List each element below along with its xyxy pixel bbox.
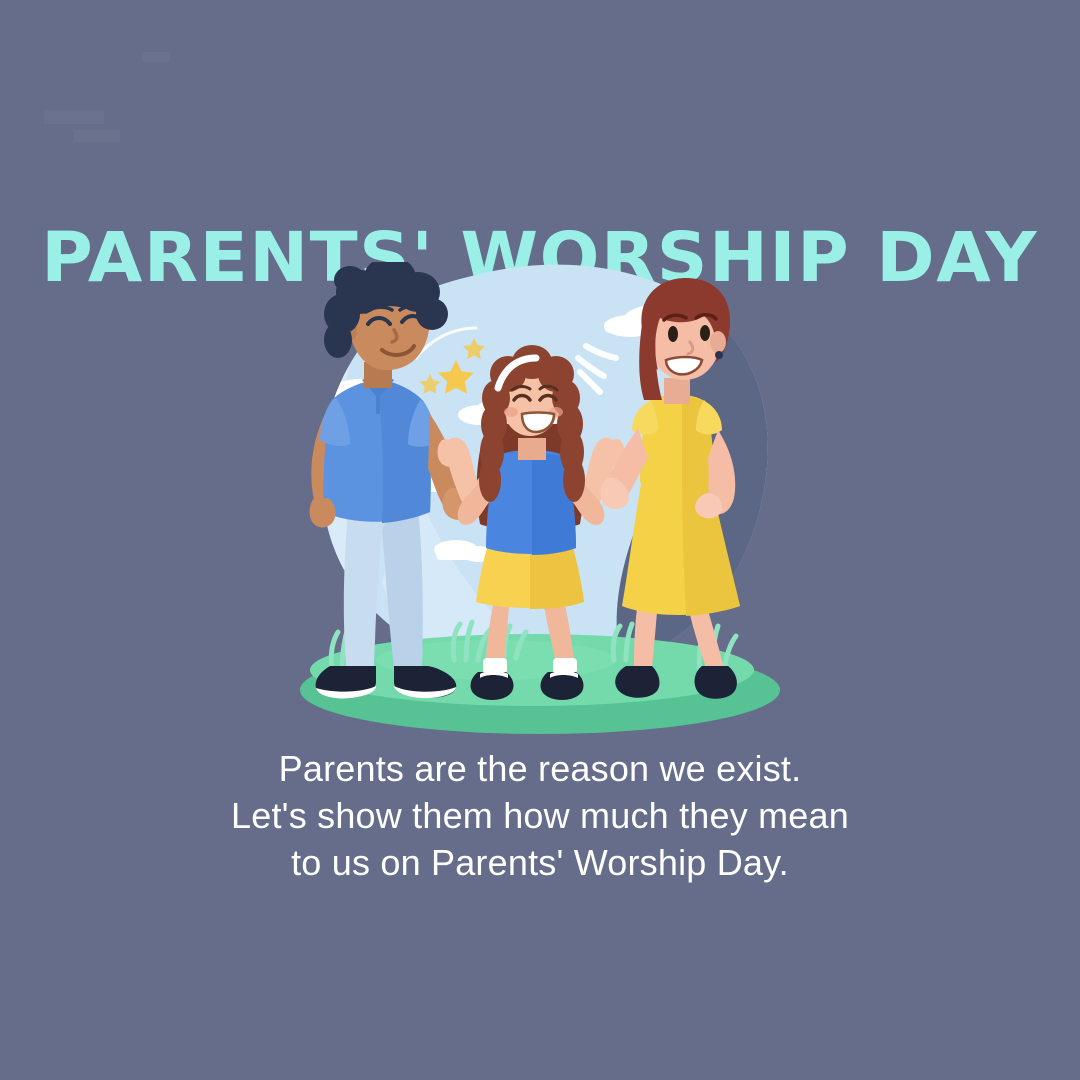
caption-block: Parents are the reason we exist. Let's s…: [0, 745, 1080, 886]
mother-shoe-right: [695, 666, 737, 699]
background-watermark: [44, 22, 234, 147]
mother-neck: [664, 378, 690, 404]
daughter-neck: [518, 438, 546, 460]
family-illustration: [290, 262, 790, 734]
father-hand-far: [310, 498, 336, 527]
father-pants-shade: [382, 508, 423, 666]
poster-canvas: PARENTS' WORSHIP DAY: [0, 0, 1080, 1080]
caption-line-1: Parents are the reason we exist.: [0, 745, 1080, 792]
mother-eye-right: [700, 325, 710, 341]
daughter-shoe-right: [541, 671, 584, 700]
mother-earring: [715, 351, 723, 359]
caption-line-3: to us on Parents' Worship Day.: [0, 839, 1080, 886]
father-collar-placket: [376, 390, 380, 414]
caption-line-2: Let's show them how much they mean: [0, 792, 1080, 839]
daughter-shoe-left: [471, 671, 514, 700]
mother-ear: [710, 331, 726, 353]
mother-shoe-left: [615, 666, 659, 698]
daughter-cheek-left: [504, 407, 518, 417]
mother-eye-left: [668, 326, 678, 342]
father-shoe-left: [316, 666, 376, 699]
